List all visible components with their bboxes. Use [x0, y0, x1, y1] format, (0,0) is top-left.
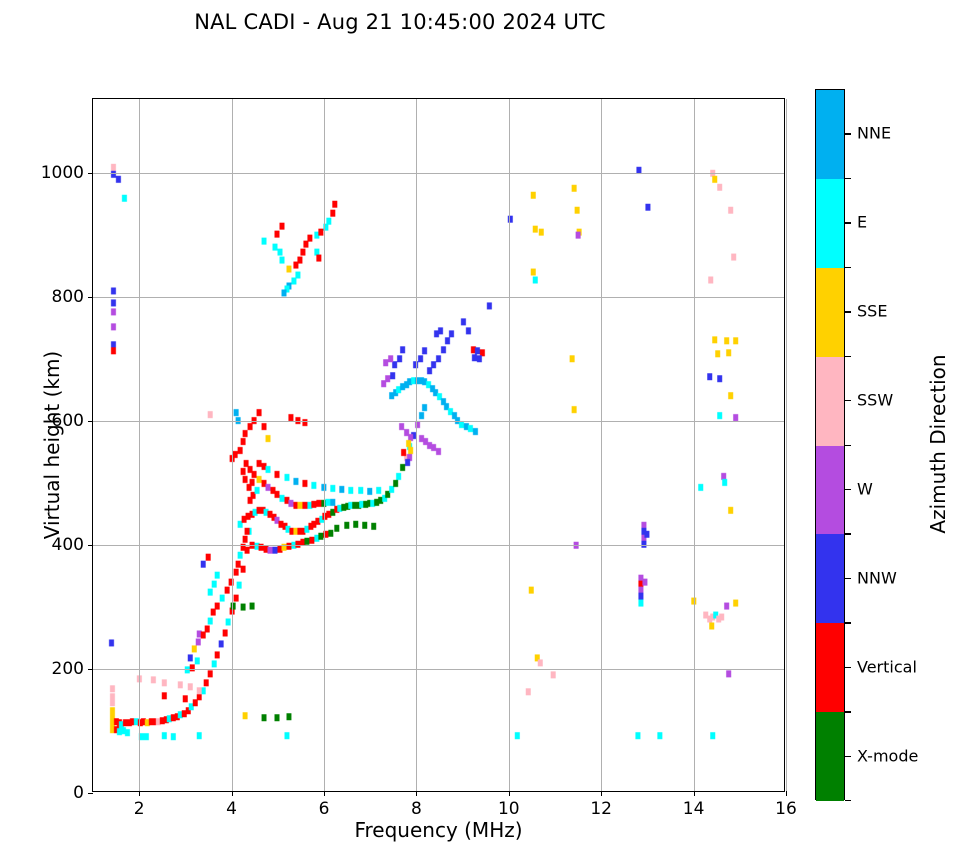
colorbar-boundary-tick	[845, 356, 851, 357]
colorbar-label: Azimuth Direction	[926, 299, 950, 589]
x-tick-label: 2	[134, 799, 145, 819]
colorbar-center-tick	[845, 400, 851, 401]
x-tick-label: 12	[590, 799, 612, 819]
colorbar-boundary-tick	[845, 267, 851, 268]
x-tick	[232, 791, 233, 796]
colorbar-tick-label-w: W	[857, 479, 873, 498]
x-gridline	[232, 99, 233, 791]
colorbar-segment-w	[816, 446, 844, 535]
colorbar-segment-sse	[816, 268, 844, 357]
colorbar-boundary-tick	[845, 622, 851, 623]
y-tick	[88, 545, 93, 546]
y-axis-label: Virtual height (km)	[40, 315, 64, 575]
x-axis-label: Frequency (MHz)	[92, 818, 785, 842]
y-tick	[88, 173, 93, 174]
x-tick	[694, 791, 695, 796]
colorbar-boundary-tick	[845, 445, 851, 446]
colorbar-center-tick	[845, 667, 851, 668]
x-tick-label: 16	[775, 799, 797, 819]
scatter-data-canvas	[93, 99, 784, 791]
x-gridline	[139, 99, 140, 791]
x-tick	[416, 791, 417, 796]
y-gridline	[93, 669, 784, 670]
colorbar-segment-vertical	[816, 623, 844, 712]
colorbar-center-tick	[845, 489, 851, 490]
colorbar-segment-nnw	[816, 534, 844, 623]
x-tick	[509, 791, 510, 796]
colorbar-tick-label-x-mode: X-mode	[857, 746, 918, 765]
azimuth-colorbar	[815, 89, 845, 800]
y-tick-label: 1000	[41, 163, 84, 183]
page-title: NAL CADI - Aug 21 10:45:00 2024 UTC	[0, 10, 800, 34]
x-gridline	[509, 99, 510, 791]
x-tick	[324, 791, 325, 796]
x-gridline	[416, 99, 417, 791]
y-tick-label: 200	[52, 659, 84, 679]
y-gridline	[93, 173, 784, 174]
colorbar-center-tick	[845, 756, 851, 757]
x-gridline	[601, 99, 602, 791]
colorbar-tick-label-vertical: Vertical	[857, 657, 917, 676]
colorbar-boundary-tick	[845, 178, 851, 179]
y-gridline	[93, 297, 784, 298]
x-gridline	[694, 99, 695, 791]
y-tick	[88, 793, 93, 794]
y-tick-label: 800	[52, 287, 84, 307]
colorbar-segment-e	[816, 179, 844, 268]
colorbar-center-tick	[845, 133, 851, 134]
y-tick	[88, 669, 93, 670]
x-tick-label: 8	[411, 799, 422, 819]
colorbar-segment-x-mode	[816, 712, 844, 801]
x-tick	[786, 791, 787, 796]
colorbar-tick-label-nnw: NNW	[857, 568, 897, 587]
y-tick	[88, 297, 93, 298]
x-tick-label: 14	[683, 799, 705, 819]
colorbar-boundary-tick	[845, 533, 851, 534]
x-tick-label: 6	[319, 799, 330, 819]
colorbar-segment-nne	[816, 90, 844, 179]
colorbar-boundary-tick	[845, 800, 851, 801]
colorbar-center-tick	[845, 578, 851, 579]
colorbar-center-tick	[845, 311, 851, 312]
y-tick-label: 0	[73, 783, 84, 803]
colorbar-tick-label-nne: NNE	[857, 124, 891, 143]
y-tick	[88, 421, 93, 422]
colorbar-tick-label-sse: SSE	[857, 302, 887, 321]
colorbar-tick-label-ssw: SSW	[857, 391, 893, 410]
colorbar-segment-ssw	[816, 357, 844, 446]
x-tick	[139, 791, 140, 796]
x-tick	[601, 791, 602, 796]
y-gridline	[93, 545, 784, 546]
x-tick-label: 10	[498, 799, 520, 819]
colorbar-tick-label-e: E	[857, 213, 867, 232]
colorbar-boundary-tick	[845, 711, 851, 712]
x-gridline	[324, 99, 325, 791]
x-tick-label: 4	[226, 799, 237, 819]
ionogram-plot-area: 24681012141602004006008001000	[92, 98, 785, 792]
y-gridline	[93, 421, 784, 422]
colorbar-center-tick	[845, 222, 851, 223]
x-gridline	[786, 99, 787, 791]
